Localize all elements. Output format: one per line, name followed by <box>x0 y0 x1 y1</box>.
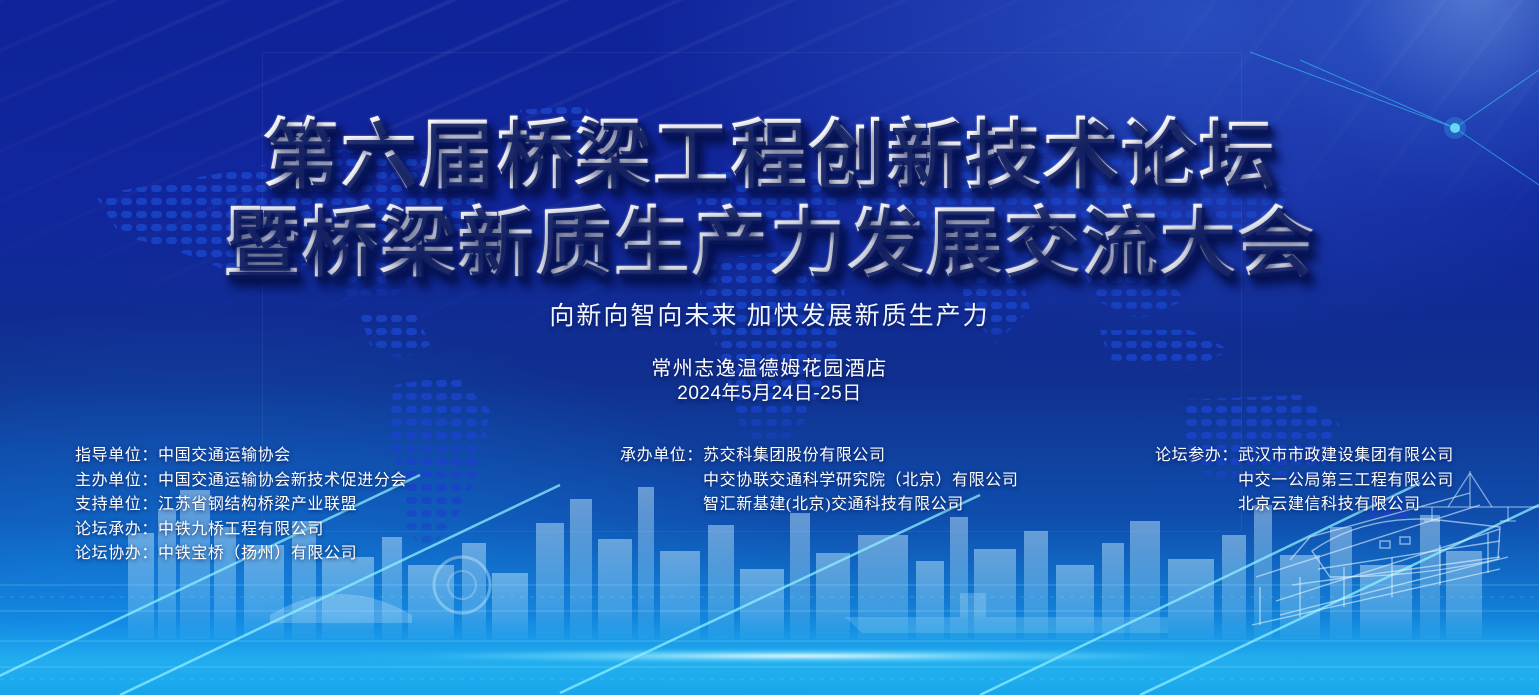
org-label: 论坛承办： <box>75 518 158 543</box>
org-row: 指导单位：中国交通运输协会 <box>75 444 407 469</box>
org-value: 中交一公局第三工程有限公司 <box>1238 469 1454 494</box>
org-row: 论坛参办：武汉市市政建设集团有限公司 <box>1155 444 1454 469</box>
banner-date: 2024年5月24日-25日 <box>0 378 1539 405</box>
org-label: 指导单位： <box>75 444 158 469</box>
organizations-block: 指导单位：中国交通运输协会 主办单位：中国交通运输协会新技术促进分会 支持单位：… <box>0 444 1539 574</box>
org-value: 苏交科集团股份有限公司 <box>703 444 886 469</box>
org-row: 主办单位：中国交通运输协会新技术促进分会 <box>75 469 407 494</box>
organizations-column-center: 承办单位：苏交科集团股份有限公司 承办单位：中交协联交通科学研究院（北京）有限公… <box>620 444 1018 518</box>
org-value: 江苏省钢结构桥梁产业联盟 <box>158 493 357 518</box>
org-value: 中国交通运输协会 <box>158 444 291 469</box>
org-row: 论坛承办：中铁九桥工程有限公司 <box>75 518 407 543</box>
conference-banner: 第六届桥梁工程创新技术论坛 暨桥梁新质生产力发展交流大会 向新向智向未来 加快发… <box>0 0 1539 695</box>
organizations-column-right: 论坛参办：武汉市市政建设集团有限公司 论坛参办：中交一公局第三工程有限公司 论坛… <box>1155 444 1454 518</box>
banner-title: 第六届桥梁工程创新技术论坛 暨桥梁新质生产力发展交流大会 <box>0 112 1539 288</box>
banner-slogan: 向新向智向未来 加快发展新质生产力 <box>0 296 1539 332</box>
org-label: 主办单位： <box>75 469 158 494</box>
org-value: 智汇新基建(北京)交通科技有限公司 <box>703 493 964 518</box>
org-row: 承办单位：苏交科集团股份有限公司 <box>620 444 1018 469</box>
org-value: 中交协联交通科学研究院（北京）有限公司 <box>703 469 1018 494</box>
org-label: 承办单位： <box>620 444 703 469</box>
org-row: 论坛参办：北京云建信科技有限公司 <box>1155 493 1454 518</box>
title-line-1: 第六届桥梁工程创新技术论坛 <box>263 114 1277 198</box>
org-row: 论坛参办：中交一公局第三工程有限公司 <box>1155 469 1454 494</box>
org-row: 承办单位：智汇新基建(北京)交通科技有限公司 <box>620 493 1018 518</box>
org-value: 中国交通运输协会新技术促进分会 <box>158 469 407 494</box>
organizations-column-left: 指导单位：中国交通运输协会 主办单位：中国交通运输协会新技术促进分会 支持单位：… <box>75 444 407 567</box>
org-value: 中铁宝桥（扬州）有限公司 <box>158 542 357 567</box>
org-row: 支持单位：江苏省钢结构桥梁产业联盟 <box>75 493 407 518</box>
banner-venue: 常州志逸温德姆花园酒店 <box>0 352 1539 381</box>
title-line-2: 暨桥梁新质生产力发展交流大会 <box>0 200 1539 288</box>
org-row: 承办单位：中交协联交通科学研究院（北京）有限公司 <box>620 469 1018 494</box>
org-row: 论坛协办：中铁宝桥（扬州）有限公司 <box>75 542 407 567</box>
org-label: 支持单位： <box>75 493 158 518</box>
org-value: 北京云建信科技有限公司 <box>1238 493 1421 518</box>
org-label: 论坛协办： <box>75 542 158 567</box>
org-value: 中铁九桥工程有限公司 <box>158 518 324 543</box>
org-label: 论坛参办： <box>1155 444 1238 469</box>
org-value: 武汉市市政建设集团有限公司 <box>1238 444 1454 469</box>
